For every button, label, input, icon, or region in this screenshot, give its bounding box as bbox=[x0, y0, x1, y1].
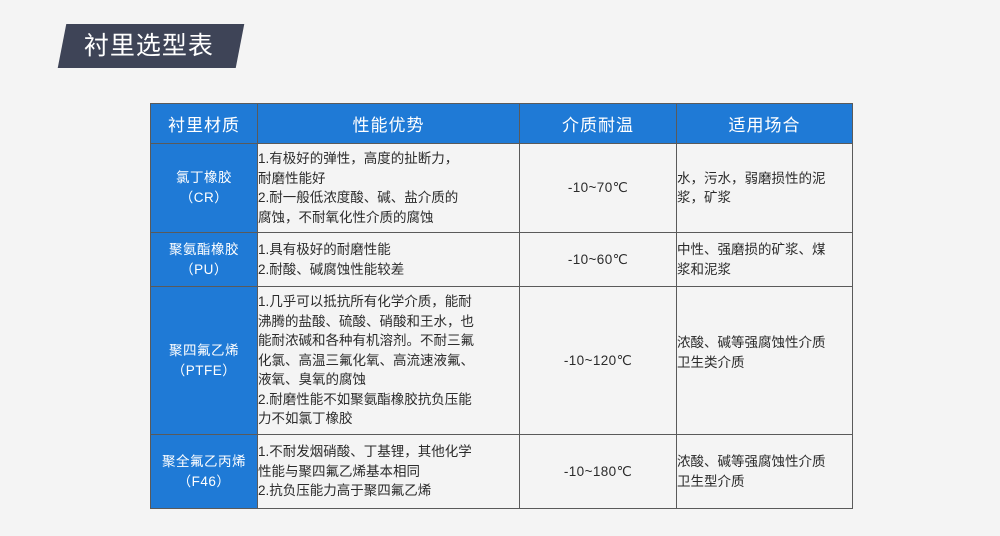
cell-temperature: -10~120℃ bbox=[520, 287, 677, 435]
cell-application: 中性、强磨损的矿浆、煤 浆和泥浆 bbox=[677, 233, 853, 287]
table-row: 聚全氟乙丙烯 （F46） 1.不耐发烟硝酸、丁基锂，其他化学 性能与聚四氟乙烯基… bbox=[151, 435, 853, 509]
application-text: 水，污水，弱磨损性的泥 浆，矿浆 bbox=[677, 169, 852, 208]
performance-line: 2.耐酸、碱腐蚀性能较差 bbox=[258, 260, 519, 280]
cell-application: 浓酸、碱等强腐蚀性介质 卫生型介质 bbox=[677, 435, 853, 509]
application-line: 卫生类介质 bbox=[677, 353, 852, 373]
table-row: 聚四氟乙烯 （PTFE） 1.几乎可以抵抗所有化学介质，能耐 沸腾的盐酸、硫酸、… bbox=[151, 287, 853, 435]
application-line: 卫生型介质 bbox=[677, 472, 852, 492]
cell-temperature: -10~70℃ bbox=[520, 144, 677, 233]
performance-line: 1.具有极好的耐磨性能 bbox=[258, 240, 519, 260]
cell-material: 氯丁橡胶 （CR） bbox=[151, 144, 258, 233]
cell-performance: 1.不耐发烟硝酸、丁基锂，其他化学 性能与聚四氟乙烯基本相同 2.抗负压能力高于… bbox=[258, 435, 520, 509]
performance-line: 性能与聚四氟乙烯基本相同 bbox=[258, 462, 519, 482]
material-abbreviation: （PU） bbox=[151, 260, 257, 280]
table-body: 氯丁橡胶 （CR） 1.有极好的弹性，高度的扯断力， 耐磨性能好 2.耐一般低浓… bbox=[151, 144, 853, 509]
material-abbreviation: （CR） bbox=[151, 188, 257, 208]
cell-material: 聚全氟乙丙烯 （F46） bbox=[151, 435, 258, 509]
cell-temperature: -10~180℃ bbox=[520, 435, 677, 509]
cell-performance: 1.几乎可以抵抗所有化学介质，能耐 沸腾的盐酸、硫酸、硝酸和王水，也 能耐浓碱和… bbox=[258, 287, 520, 435]
material-name: 聚全氟乙丙烯 bbox=[151, 452, 257, 472]
cell-performance: 1.有极好的弹性，高度的扯断力， 耐磨性能好 2.耐一般低浓度酸、碱、盐介质的 … bbox=[258, 144, 520, 233]
column-header-application: 适用场合 bbox=[677, 104, 853, 144]
material-name: 聚氨酯橡胶 bbox=[151, 240, 257, 260]
column-header-temperature: 介质耐温 bbox=[520, 104, 677, 144]
material-name: 氯丁橡胶 bbox=[151, 168, 257, 188]
application-line: 水，污水，弱磨损性的泥 bbox=[677, 169, 852, 189]
cell-performance: 1.具有极好的耐磨性能 2.耐酸、碱腐蚀性能较差 bbox=[258, 233, 520, 287]
lining-selection-table: 衬里材质 性能优势 介质耐温 适用场合 氯丁橡胶 （CR） 1.有极好的弹性，高… bbox=[150, 103, 853, 509]
material-abbreviation: （PTFE） bbox=[151, 361, 257, 381]
application-text: 中性、强磨损的矿浆、煤 浆和泥浆 bbox=[677, 240, 852, 279]
performance-line: 1.几乎可以抵抗所有化学介质，能耐 bbox=[258, 292, 519, 312]
performance-line: 能耐浓碱和各种有机溶剂。不耐三氟 bbox=[258, 331, 519, 351]
application-text: 浓酸、碱等强腐蚀性介质 卫生型介质 bbox=[677, 452, 852, 491]
table-header-row: 衬里材质 性能优势 介质耐温 适用场合 bbox=[151, 104, 853, 144]
cell-application: 水，污水，弱磨损性的泥 浆，矿浆 bbox=[677, 144, 853, 233]
performance-line: 1.有极好的弹性，高度的扯断力， bbox=[258, 149, 519, 169]
material-abbreviation: （F46） bbox=[151, 472, 257, 492]
application-line: 中性、强磨损的矿浆、煤 bbox=[677, 240, 852, 260]
performance-line: 耐磨性能好 bbox=[258, 169, 519, 189]
performance-line: 力不如氯丁橡胶 bbox=[258, 409, 519, 429]
page-title-banner: 衬里选型表 bbox=[58, 24, 245, 68]
performance-line: 2.耐一般低浓度酸、碱、盐介质的 bbox=[258, 188, 519, 208]
cell-application: 浓酸、碱等强腐蚀性介质 卫生类介质 bbox=[677, 287, 853, 435]
material-name: 聚四氟乙烯 bbox=[151, 341, 257, 361]
performance-line: 2.耐磨性能不如聚氨酯橡胶抗负压能 bbox=[258, 390, 519, 410]
cell-temperature: -10~60℃ bbox=[520, 233, 677, 287]
performance-line: 1.不耐发烟硝酸、丁基锂，其他化学 bbox=[258, 442, 519, 462]
column-header-material: 衬里材质 bbox=[151, 104, 258, 144]
table-header: 衬里材质 性能优势 介质耐温 适用场合 bbox=[151, 104, 853, 144]
column-header-performance: 性能优势 bbox=[258, 104, 520, 144]
table-row: 氯丁橡胶 （CR） 1.有极好的弹性，高度的扯断力， 耐磨性能好 2.耐一般低浓… bbox=[151, 144, 853, 233]
page-title: 衬里选型表 bbox=[84, 34, 214, 59]
application-text: 浓酸、碱等强腐蚀性介质 卫生类介质 bbox=[677, 333, 852, 372]
performance-line: 液氧、臭氧的腐蚀 bbox=[258, 370, 519, 390]
performance-line: 2.抗负压能力高于聚四氟乙烯 bbox=[258, 481, 519, 501]
performance-line: 化氯、高温三氟化氧、高流速液氟、 bbox=[258, 351, 519, 371]
cell-material: 聚氨酯橡胶 （PU） bbox=[151, 233, 258, 287]
lining-selection-table-container: 衬里材质 性能优势 介质耐温 适用场合 氯丁橡胶 （CR） 1.有极好的弹性，高… bbox=[150, 103, 852, 509]
table-row: 聚氨酯橡胶 （PU） 1.具有极好的耐磨性能 2.耐酸、碱腐蚀性能较差 -10~… bbox=[151, 233, 853, 287]
cell-material: 聚四氟乙烯 （PTFE） bbox=[151, 287, 258, 435]
application-line: 浆，矿浆 bbox=[677, 188, 852, 208]
performance-line: 腐蚀，不耐氧化性介质的腐蚀 bbox=[258, 208, 519, 228]
performance-line: 沸腾的盐酸、硫酸、硝酸和王水，也 bbox=[258, 312, 519, 332]
application-line: 浓酸、碱等强腐蚀性介质 bbox=[677, 452, 852, 472]
application-line: 浓酸、碱等强腐蚀性介质 bbox=[677, 333, 852, 353]
application-line: 浆和泥浆 bbox=[677, 260, 852, 280]
